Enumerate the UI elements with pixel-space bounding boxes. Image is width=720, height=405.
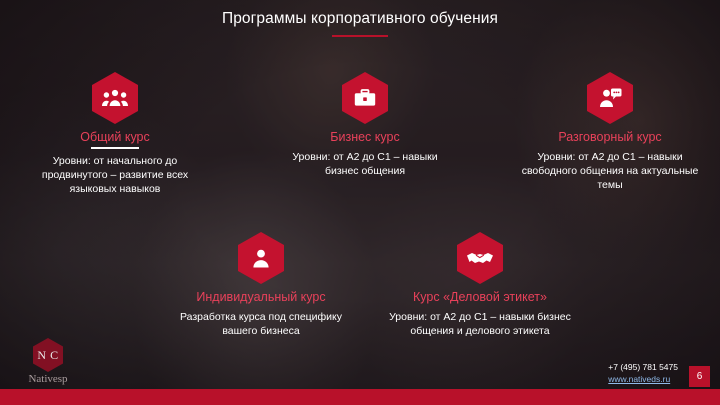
company-logo: N C Nativesp (16, 338, 80, 385)
hex-badge (457, 232, 503, 284)
group-people-icon (102, 89, 128, 107)
contact-website-link[interactable]: www.nativeds.ru (608, 374, 670, 384)
single-person-icon (251, 248, 271, 268)
hex-badge-wrap (385, 232, 575, 284)
course-description: Уровни: от А2 до С1 – навыки бизнес обще… (385, 310, 575, 338)
course-card-general: Общий курс Уровни: от начального до прод… (30, 72, 200, 196)
logo-mark: N C (33, 338, 63, 372)
slide: Программы корпоративного обучения Общий … (0, 0, 720, 405)
hex-badge (92, 72, 138, 124)
logo-name: Nativesp (16, 373, 80, 385)
background-vignette (0, 0, 720, 405)
speech-person-icon (598, 88, 622, 108)
hex-badge-wrap (175, 232, 347, 284)
hex-badge-wrap (285, 72, 445, 124)
course-name: Курс «Деловой этикет» (385, 290, 575, 304)
hex-badge (342, 72, 388, 124)
course-name: Индивидуальный курс (175, 290, 347, 304)
hex-badge (587, 72, 633, 124)
course-name: Общий курс (30, 130, 200, 144)
course-name: Разговорный курс (515, 130, 705, 144)
course-card-business: Бизнес курс Уровни: от А2 до С1 – навыки… (285, 72, 445, 178)
course-underline (91, 147, 139, 149)
hex-badge (238, 232, 284, 284)
course-description: Уровни: от А2 до С1 – навыки свободного … (515, 150, 705, 192)
slide-title: Программы корпоративного обучения (0, 10, 720, 28)
bottom-accent-bar (0, 389, 720, 405)
hex-badge-wrap (515, 72, 705, 124)
hex-badge-wrap (30, 72, 200, 124)
course-card-individual: Индивидуальный курс Разработка курса под… (175, 232, 347, 338)
course-name: Бизнес курс (285, 130, 445, 144)
course-card-conversational: Разговорный курс Уровни: от А2 до С1 – н… (515, 72, 705, 192)
contact-phone: +7 (495) 781 5475 (608, 361, 678, 373)
course-description: Разработка курса под специфику вашего би… (175, 310, 347, 338)
course-description: Уровни: от начального до продвинутого – … (30, 154, 200, 196)
course-card-etiquette: Курс «Деловой этикет» Уровни: от А2 до С… (385, 232, 575, 338)
title-divider (332, 35, 388, 37)
page-number-badge: 6 (689, 366, 710, 387)
handshake-icon (466, 250, 494, 266)
course-description: Уровни: от А2 до С1 – навыки бизнес обще… (285, 150, 445, 178)
contacts-block: +7 (495) 781 5475 www.nativeds.ru (608, 361, 678, 385)
briefcase-icon (354, 89, 376, 107)
